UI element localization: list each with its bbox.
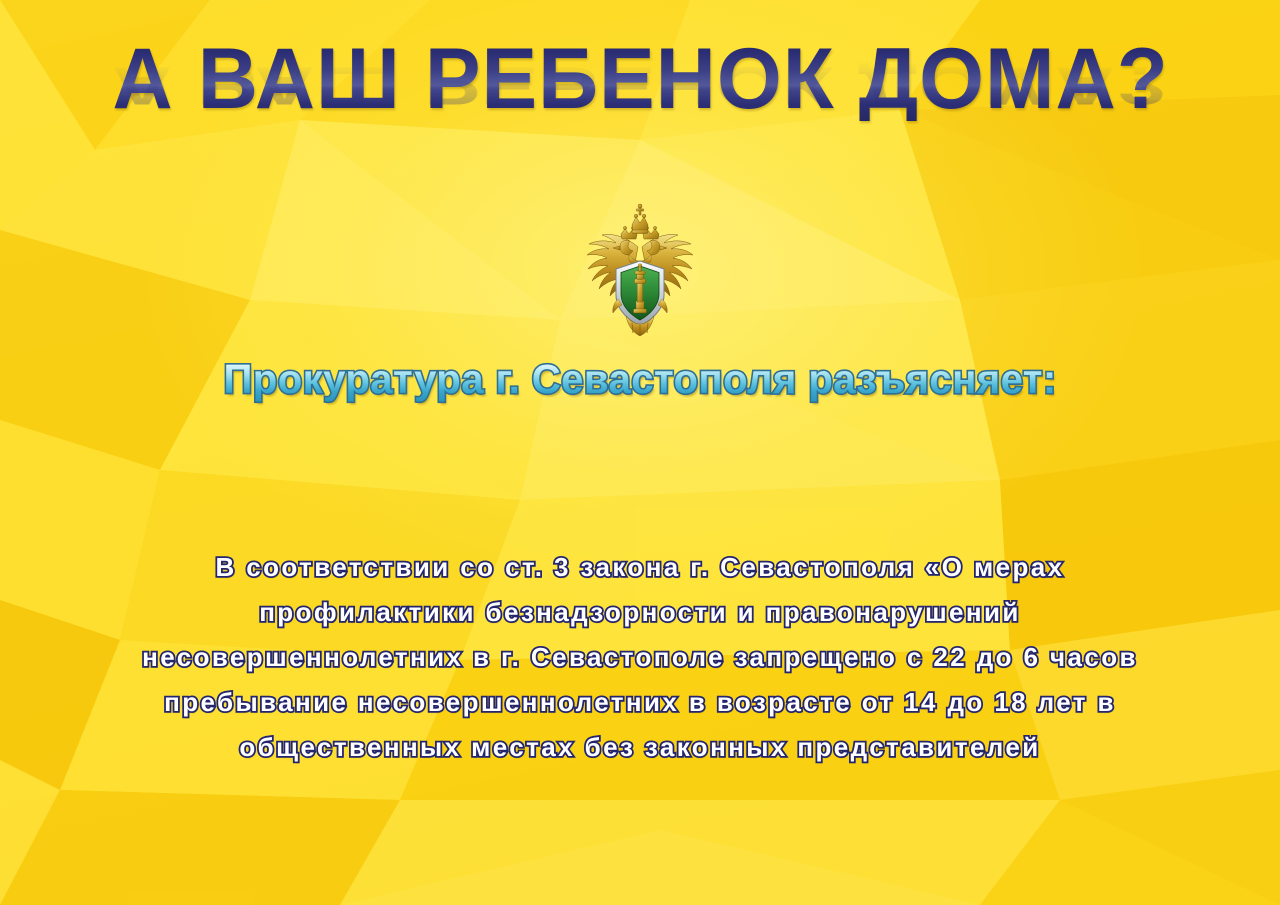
background-low-poly-pattern (0, 0, 1280, 905)
prosecutor-emblem (580, 203, 700, 338)
poster-slide: А ВАШ РЕБЕНОК ДОМА? А ВАШ РЕБЕНОК ДОМА? (0, 0, 1280, 905)
